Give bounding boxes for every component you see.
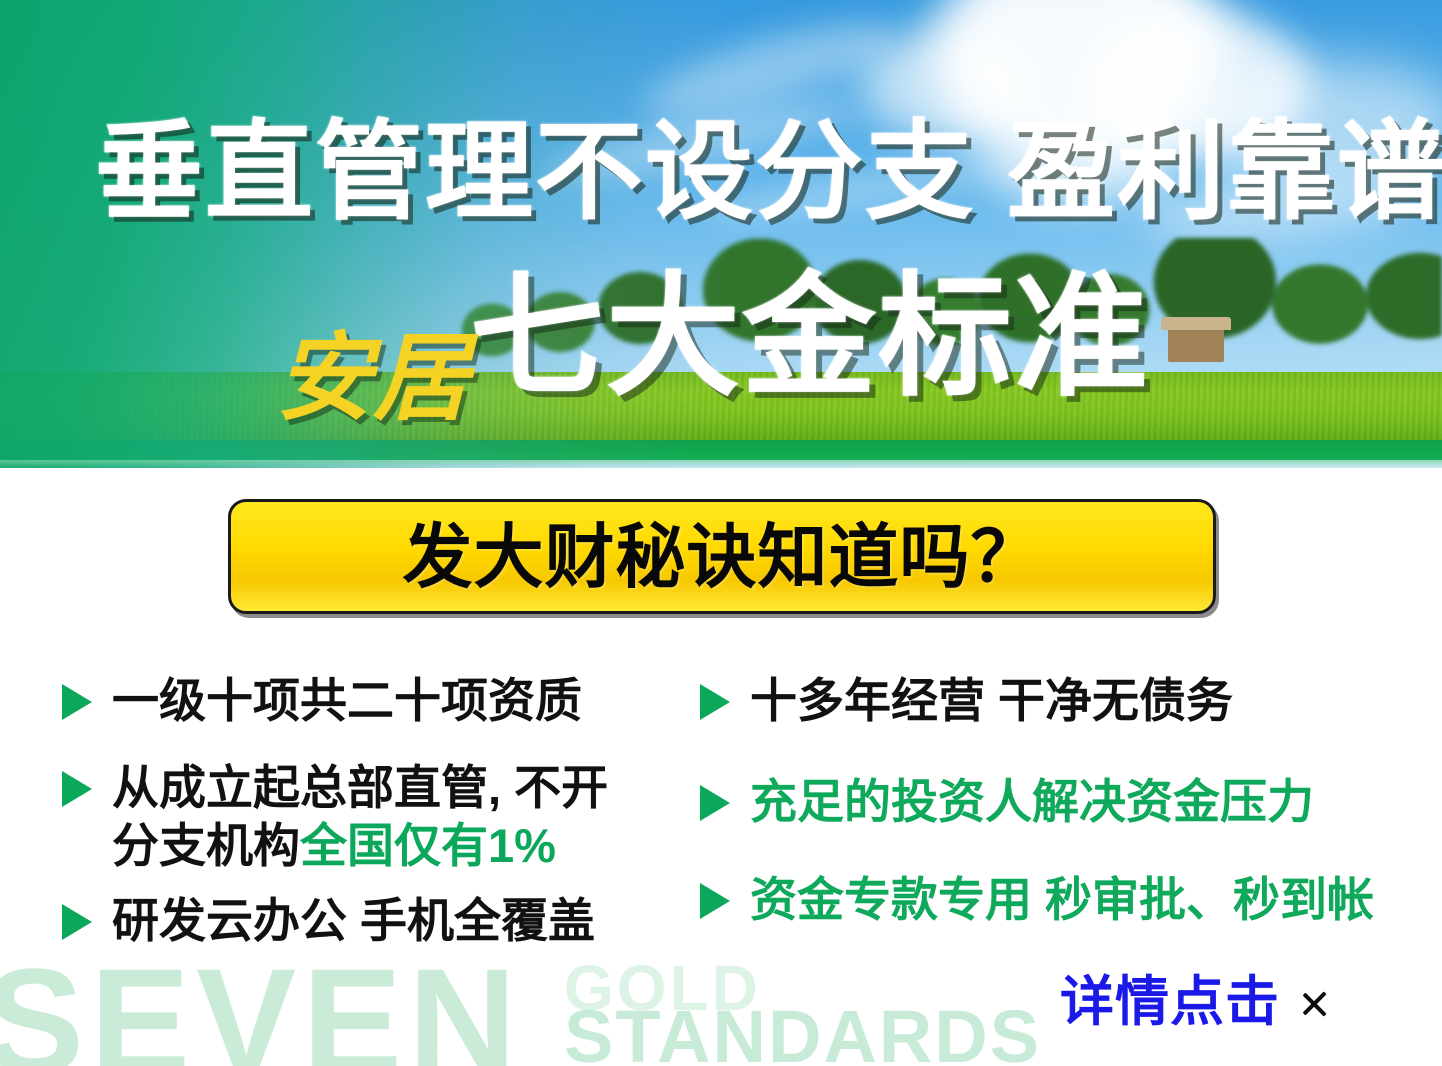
feature-text-part: 从成立起总部直管, 不开 bbox=[112, 761, 608, 814]
feature-text-part: 研发云办公 手机全覆盖 bbox=[112, 894, 595, 947]
hero-headline-line2-wrapper: 安居七大金标准 bbox=[276, 268, 1376, 409]
feature-text-part: 一级十项共二十项资质 bbox=[112, 674, 582, 727]
hero-headline-line2: 七大金标准 bbox=[470, 268, 1150, 409]
callout-button[interactable]: 发大财秘诀知道吗？ bbox=[228, 499, 1216, 614]
feature-text-part: 分支机构 bbox=[112, 819, 300, 872]
feature-text: 研发云办公 手机全覆盖 bbox=[112, 892, 595, 949]
feature-text: 资金专款专用 秒审批、秒到帐 bbox=[750, 871, 1374, 928]
advertisement-banner: 垂直管理不设分支 盈利靠谱 安居七大金标准 SEVEN GOLD STANDAR… bbox=[0, 0, 1442, 1066]
feature-list-right: 十多年经营 干净无债务 充足的投资人解决资金压力 资金专款专用 秒审批、秒到帐 bbox=[700, 672, 1400, 956]
triangle-bullet-icon bbox=[62, 904, 92, 940]
feature-text-part: 十多年经营 干净无债务 bbox=[750, 674, 1233, 727]
list-item: 资金专款专用 秒审批、秒到帐 bbox=[700, 871, 1400, 928]
feature-text: 一级十项共二十项资质 bbox=[112, 672, 582, 729]
triangle-bullet-icon bbox=[700, 883, 730, 919]
hero-brand-label: 安居 bbox=[276, 328, 470, 429]
triangle-bullet-icon bbox=[700, 684, 730, 720]
details-cta-button[interactable]: 详情点击 bbox=[1060, 975, 1328, 1029]
feature-text: 充足的投资人解决资金压力 bbox=[750, 773, 1314, 830]
feature-text-part: 资金专款专用 秒审批、秒到帐 bbox=[750, 873, 1374, 926]
list-item: 充足的投资人解决资金压力 bbox=[700, 773, 1400, 830]
chevron-right-icon bbox=[1302, 980, 1328, 1024]
list-item: 研发云办公 手机全覆盖 bbox=[62, 892, 672, 949]
feature-text: 十多年经营 干净无债务 bbox=[750, 672, 1233, 729]
cta-label: 详情点击 bbox=[1060, 975, 1280, 1029]
list-item: 一级十项共二十项资质 bbox=[62, 672, 672, 729]
triangle-bullet-icon bbox=[700, 785, 730, 821]
list-item: 从成立起总部直管, 不开 分支机构全国仅有1% bbox=[62, 759, 672, 874]
feature-text-part: 充足的投资人解决资金压力 bbox=[750, 775, 1314, 828]
hero-headline-line1: 垂直管理不设分支 盈利靠谱 bbox=[95, 112, 1360, 233]
hero-section: 垂直管理不设分支 盈利靠谱 安居七大金标准 bbox=[0, 0, 1442, 468]
watermark-standards: STANDARDS bbox=[564, 1000, 1041, 1066]
triangle-bullet-icon bbox=[62, 684, 92, 720]
triangle-bullet-icon bbox=[62, 771, 92, 807]
callout-label: 发大财秘诀知道吗？ bbox=[403, 522, 1042, 592]
feature-text-highlight: 全国仅有1% bbox=[300, 819, 556, 872]
hero-bottom-fade bbox=[0, 460, 1442, 468]
feature-text: 从成立起总部直管, 不开 分支机构全国仅有1% bbox=[112, 759, 608, 874]
list-item: 十多年经营 干净无债务 bbox=[700, 672, 1400, 729]
feature-list-left: 一级十项共二十项资质 从成立起总部直管, 不开 分支机构全国仅有1% 研发云办公… bbox=[62, 672, 672, 977]
